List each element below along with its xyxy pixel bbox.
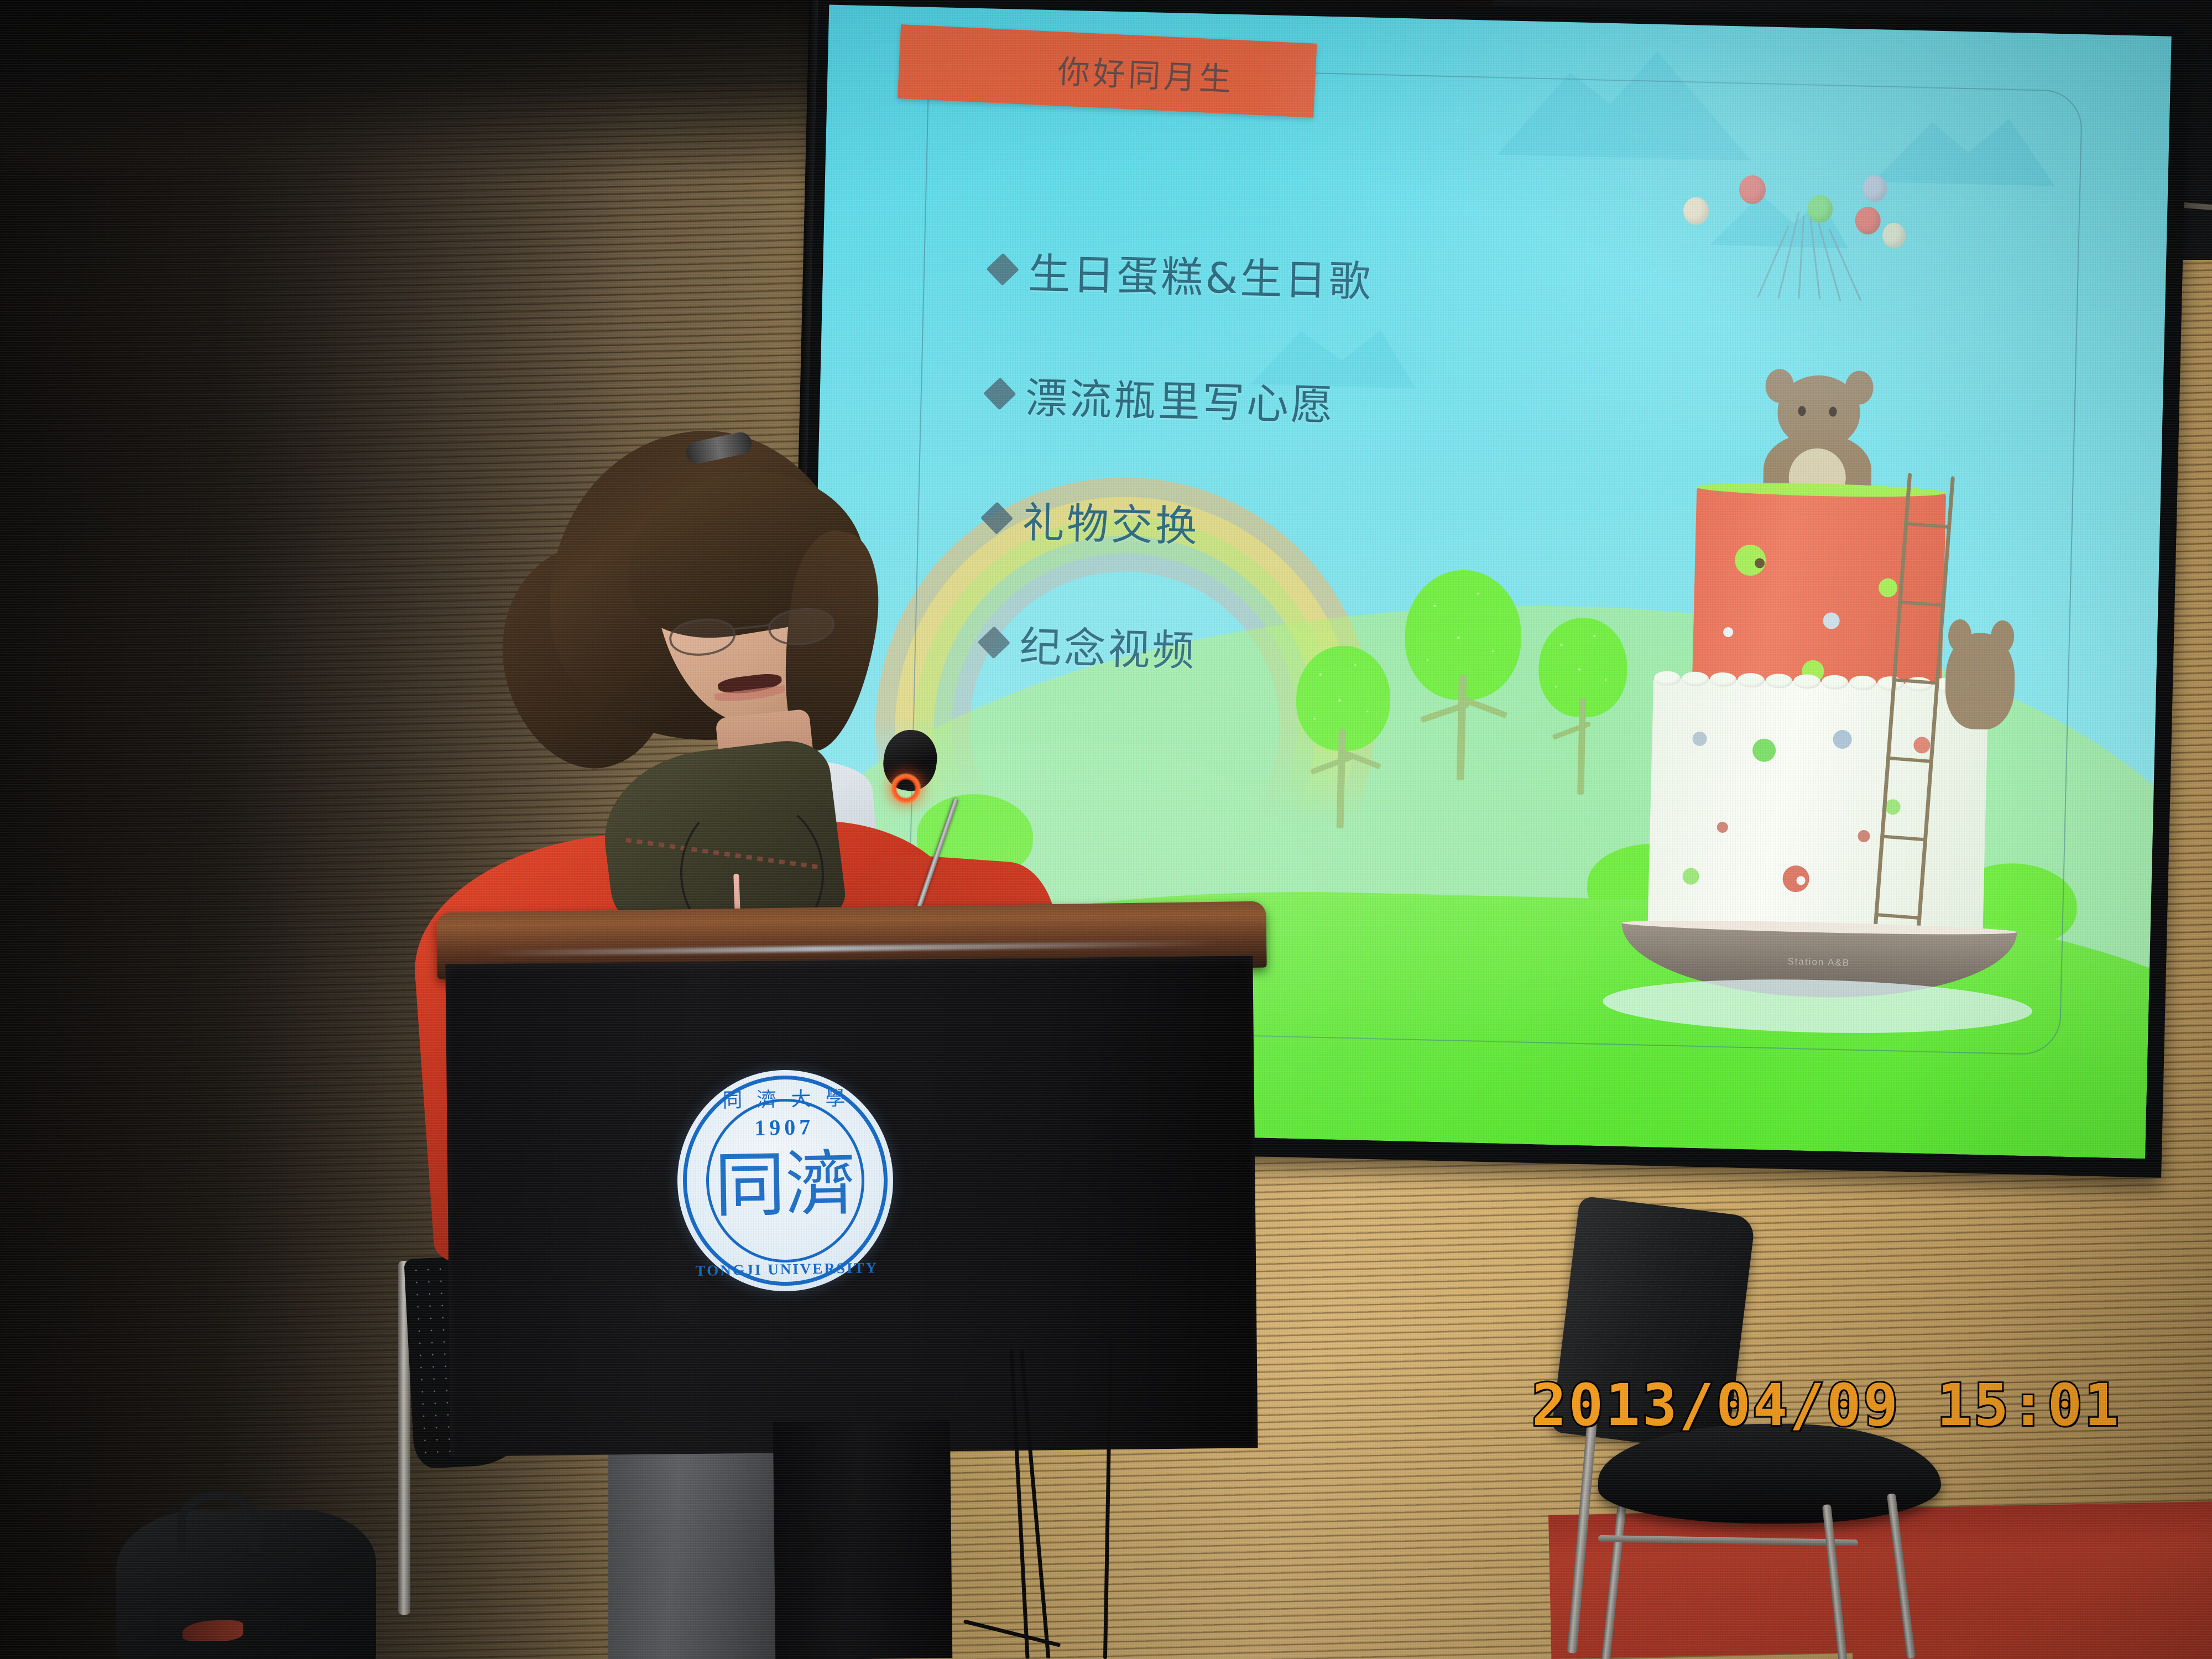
emblem-calligraphy-glyph: 同濟 (698, 1148, 873, 1253)
diamond-bullet-icon (983, 377, 1016, 410)
slide-bullet-list: 生日蛋糕&生日歌 漂流瓶里写心愿 礼物交换 纪念视频 (980, 239, 1770, 755)
lectern (420, 907, 1283, 1659)
presenter (487, 420, 1040, 973)
mountain-shape (1497, 28, 1754, 161)
list-item: 礼物交换 (984, 488, 1764, 567)
cake-base-label: Station A&B (1668, 953, 1969, 972)
balloon (1807, 195, 1833, 223)
lectern-column (773, 1420, 952, 1659)
teddy-bear-climbing (1944, 633, 2015, 731)
camera-timestamp: 2013/04/09 15:01 (1532, 1371, 2121, 1439)
mountain-shape (1872, 99, 2057, 186)
photograph-scene: Station A&B 你好同月生 生日蛋糕&生日歌 漂流瓶里写心愿 (0, 0, 2212, 1659)
cake-plate (1602, 975, 2033, 1037)
balloon (1683, 197, 1709, 225)
list-item: 漂流瓶里写心愿 (987, 363, 1767, 442)
backpack[interactable] (116, 1510, 376, 1659)
balloon (1739, 175, 1766, 204)
bullet-label: 礼物交换 (1022, 488, 1201, 554)
balloon (1882, 223, 1906, 249)
diamond-bullet-icon (986, 253, 1019, 285)
emblem-year: 1907 (676, 1113, 893, 1142)
list-item: 纪念视频 (981, 612, 1761, 691)
slide-title: 你好同月生 (1057, 45, 1236, 100)
bullet-label: 纪念视频 (1019, 613, 1197, 678)
bullet-label: 生日蛋糕&生日歌 (1027, 239, 1374, 309)
bullet-label: 漂流瓶里写心愿 (1025, 364, 1335, 432)
emblem-chinese-name: 同濟大學 (676, 1082, 892, 1114)
balloon (1863, 175, 1887, 202)
balloon (1855, 206, 1881, 234)
microphone-indicator-light (890, 773, 921, 804)
